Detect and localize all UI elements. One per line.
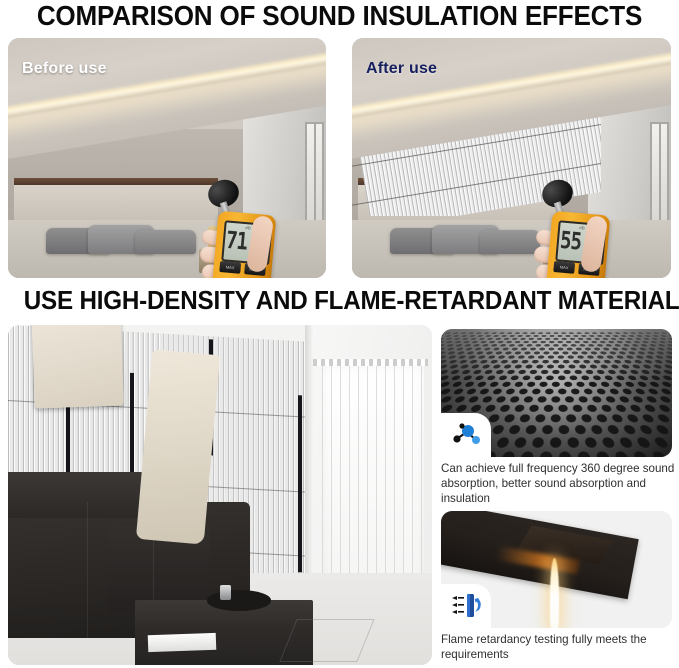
pillow [480,230,541,254]
throw-pillow [32,325,125,408]
feature-caption-absorption: Can achieve full frequency 360 degree so… [441,461,675,507]
after-use-photo: After use dB 55.7 MAX HOLD GM1352 [352,38,671,278]
max-button[interactable]: MAX [219,261,241,274]
flame-icon [550,558,559,628]
living-room-scene [8,325,432,665]
headboard [14,182,218,222]
window-pane [305,122,324,227]
photo-highlight [441,329,672,383]
serving-tray [207,590,271,610]
before-use-label: Before use [22,60,107,78]
fire-barrier-icon-badge [441,584,491,628]
fire-barrier-icon [450,593,482,619]
black-accent-slat [298,396,302,573]
open-book [148,633,216,652]
page-title-comparison: COMPARISON OF SOUND INSULATION EFFECTS [24,0,655,32]
sofa-seam [87,502,88,638]
sound-level-meter-before: dB 71.0 MAX HOLD GM1352 SOUND LEVEL METE… [206,180,284,278]
page-title-materials: USE HIGH-DENSITY AND FLAME-RETARDANT MAT… [24,285,655,315]
molecule-icon-badge [441,413,491,457]
after-use-label: After use [366,60,437,78]
max-button[interactable]: MAX [553,261,575,274]
curtain-rail [313,359,427,366]
window-pane [650,122,669,227]
pillow [135,230,195,254]
before-use-photo: Before use dB 71.0 MAX HOLD GM1352 [8,38,326,278]
sofa-backrest [8,472,153,518]
living-room-photo [8,325,432,665]
sound-level-meter-after: dB 55.7 MAX HOLD GM1352 SOUND LEVEL METE… [540,180,618,278]
glassware [220,585,231,600]
molecule-icon [451,422,481,448]
feature-caption-flame: Flame retardancy testing fully meets the… [441,632,675,662]
headboard-trim [14,178,218,185]
product-infographic: COMPARISON OF SOUND INSULATION EFFECTS B… [0,0,679,668]
